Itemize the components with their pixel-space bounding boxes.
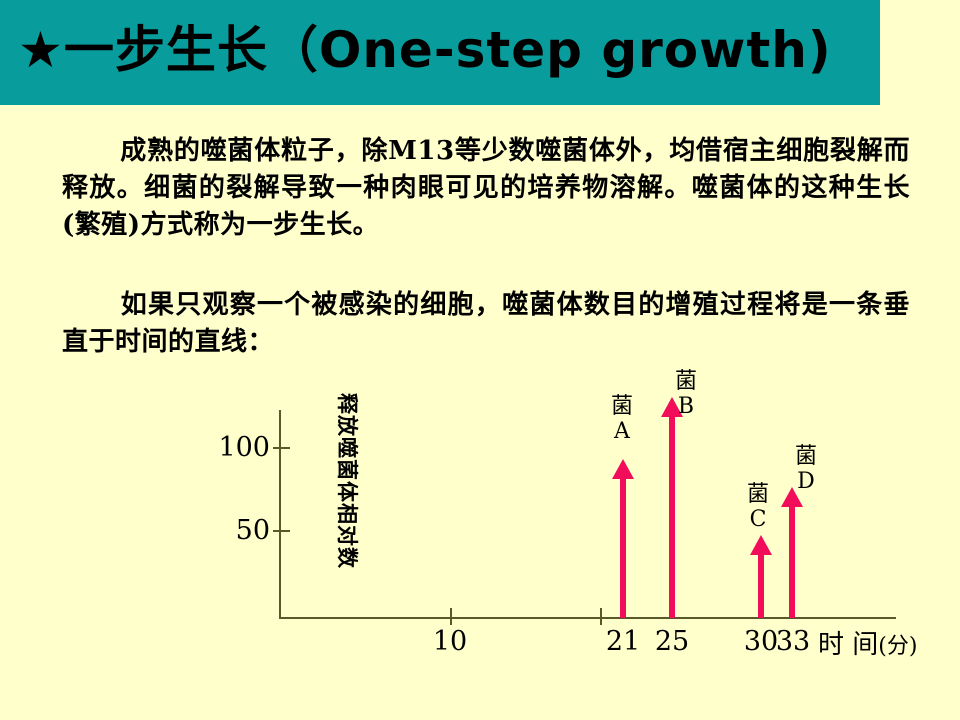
annotation-label-d: 菌 D	[786, 444, 826, 494]
annotation-label-c: 菌 C	[738, 482, 778, 532]
x-axis-line	[279, 617, 896, 619]
slide-title-bar: ★一步生长（One-step growth)	[0, 0, 880, 105]
y-axis-title: 释放噬菌体相对数	[333, 393, 363, 593]
annotation-label-c-line2: C	[738, 507, 778, 532]
bar-arrow-b	[661, 397, 683, 618]
arrow-shaft	[620, 475, 626, 618]
annotation-label-b: 菌 B	[666, 369, 706, 419]
arrow-shaft	[789, 503, 795, 618]
x-axis-tick-label-33: 33	[765, 626, 821, 657]
annotation-label-b-line2: B	[666, 394, 706, 419]
arrow-head-icon	[661, 397, 683, 417]
x-axis-tick-label-21: 21	[595, 626, 651, 657]
annotation-label-d-line1: 菌	[786, 444, 826, 469]
paragraph-1-text: 成熟的噬菌体粒子，除M13等少数噬菌体外，均借宿主细胞裂解而释放。细菌的裂解导致…	[62, 136, 910, 240]
x-axis-title-unit: (分)	[878, 634, 917, 659]
y-axis-tick-50	[273, 530, 290, 532]
arrow-shaft	[669, 413, 675, 618]
body-paragraph-1: 成熟的噬菌体粒子，除M13等少数噬菌体外，均借宿主细胞裂解而释放。细菌的裂解导致…	[62, 133, 910, 244]
bar-arrow-c	[750, 535, 772, 618]
x-axis-tick-label-10: 10	[422, 626, 478, 657]
x-axis-title: 时 间(分)	[818, 624, 917, 661]
arrow-head-icon	[781, 487, 803, 507]
y-axis-line	[279, 410, 281, 619]
page-title: ★一步生长（One-step growth)	[18, 16, 868, 84]
arrow-head-icon	[612, 459, 634, 479]
annotation-label-c-line1: 菌	[738, 482, 778, 507]
x-axis-tick-label-30: 30	[733, 626, 789, 657]
y-axis-tick-label-100: 100	[200, 432, 270, 463]
annotation-label-b-line1: 菌	[666, 369, 706, 394]
annotation-label-a: 菌 A	[602, 394, 642, 444]
y-axis-tick-100	[273, 447, 290, 449]
arrow-head-icon	[750, 535, 772, 555]
x-axis-title-text: 时 间	[818, 630, 878, 660]
x-axis-tick-label-25: 25	[644, 626, 700, 657]
annotation-label-a-line2: A	[602, 419, 642, 444]
arrow-shaft	[758, 551, 764, 618]
x-axis-tick-10	[450, 608, 452, 625]
body-paragraph-2: 如果只观察一个被感染的细胞，噬菌体数目的增殖过程将是一条垂直于时间的直线：	[62, 287, 910, 361]
annotation-label-a-line1: 菌	[602, 394, 642, 419]
annotation-label-d-line2: D	[786, 469, 826, 494]
bar-arrow-a	[612, 459, 634, 618]
y-axis-tick-label-50: 50	[200, 515, 270, 546]
paragraph-2-text: 如果只观察一个被感染的细胞，噬菌体数目的增殖过程将是一条垂直于时间的直线：	[62, 290, 910, 357]
x-axis-tick-21	[600, 608, 602, 625]
bar-arrow-d	[781, 487, 803, 618]
